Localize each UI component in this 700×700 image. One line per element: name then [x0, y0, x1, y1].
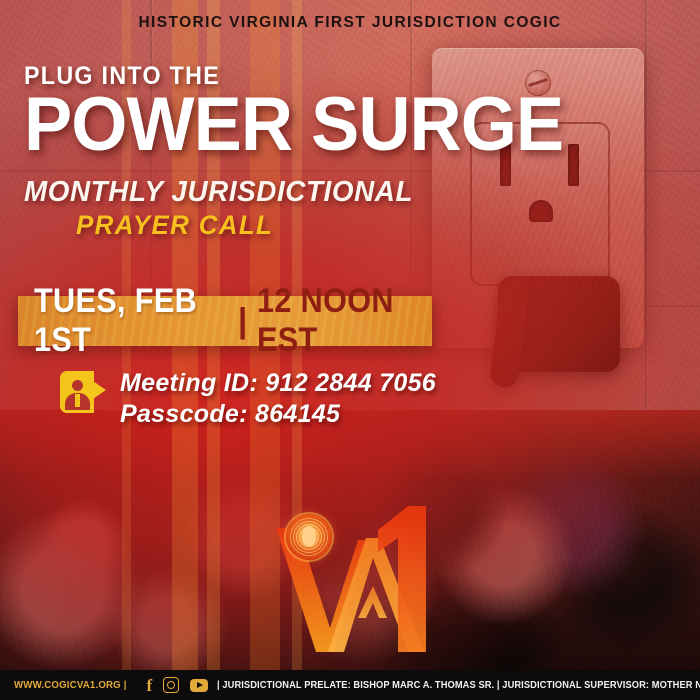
date-time-banner: TUES, FEB 1ST | 12 NOON EST [18, 296, 432, 346]
passcode-line: Passcode: 864145 [120, 399, 436, 430]
passcode-label: Passcode: [120, 400, 248, 428]
meeting-text-lines: Meeting ID: 912 2844 7056 Passcode: 8641… [120, 368, 436, 430]
website-url[interactable]: WWW.COGICVA1.ORG | [14, 679, 127, 691]
social-links: f [146, 677, 208, 694]
headline-subtitle-line2: PRAYER CALL [76, 210, 448, 241]
headline-title: POWER SURGE [24, 89, 442, 162]
passcode-value: 864145 [255, 400, 340, 428]
footer-bar: WWW.COGICVA1.ORG | f | JURISDICTIONAL PR… [0, 670, 700, 700]
youtube-icon[interactable] [190, 679, 208, 692]
meeting-info-block: Meeting ID: 912 2844 7056 Passcode: 8641… [60, 368, 436, 430]
instagram-icon[interactable] [163, 677, 179, 693]
flyer-canvas: HISTORIC VIRGINIA FIRST JURISDICTION COG… [0, 0, 700, 700]
facebook-icon[interactable]: f [146, 677, 152, 694]
organization-header: HISTORIC VIRGINIA FIRST JURISDICTION COG… [0, 0, 700, 46]
va1-logo [258, 500, 458, 665]
person-tie [75, 394, 80, 407]
headline-subtitle-line1: MONTHLY JURISDICTIONAL [24, 176, 446, 209]
prelate-credit: | JURISDICTIONAL PRELATE: BISHOP MARC A.… [217, 680, 494, 691]
event-date: TUES, FEB 1ST [34, 282, 209, 360]
event-time: 12 NOON EST [257, 282, 414, 360]
meeting-id-value: 912 2844 7056 [265, 369, 436, 397]
cogic-seal-icon [286, 514, 332, 560]
headline-block: PLUG INTO THE POWER SURGE MONTHLY JURISD… [24, 62, 464, 241]
footer-credits: | JURISDICTIONAL PRELATE: BISHOP MARC A.… [217, 680, 700, 691]
meeting-id-label: Meeting ID: [120, 369, 258, 397]
supervisor-credit: | JURISDICTIONAL SUPERVISOR: MOTHER NELL… [497, 680, 700, 691]
banner-divider: | [238, 302, 248, 341]
meeting-id-line: Meeting ID: 912 2844 7056 [120, 368, 436, 399]
organization-name: HISTORIC VIRGINIA FIRST JURISDICTION COG… [138, 14, 561, 32]
video-conference-icon [60, 371, 106, 413]
camera-lens [90, 379, 106, 401]
person-head [72, 380, 83, 391]
